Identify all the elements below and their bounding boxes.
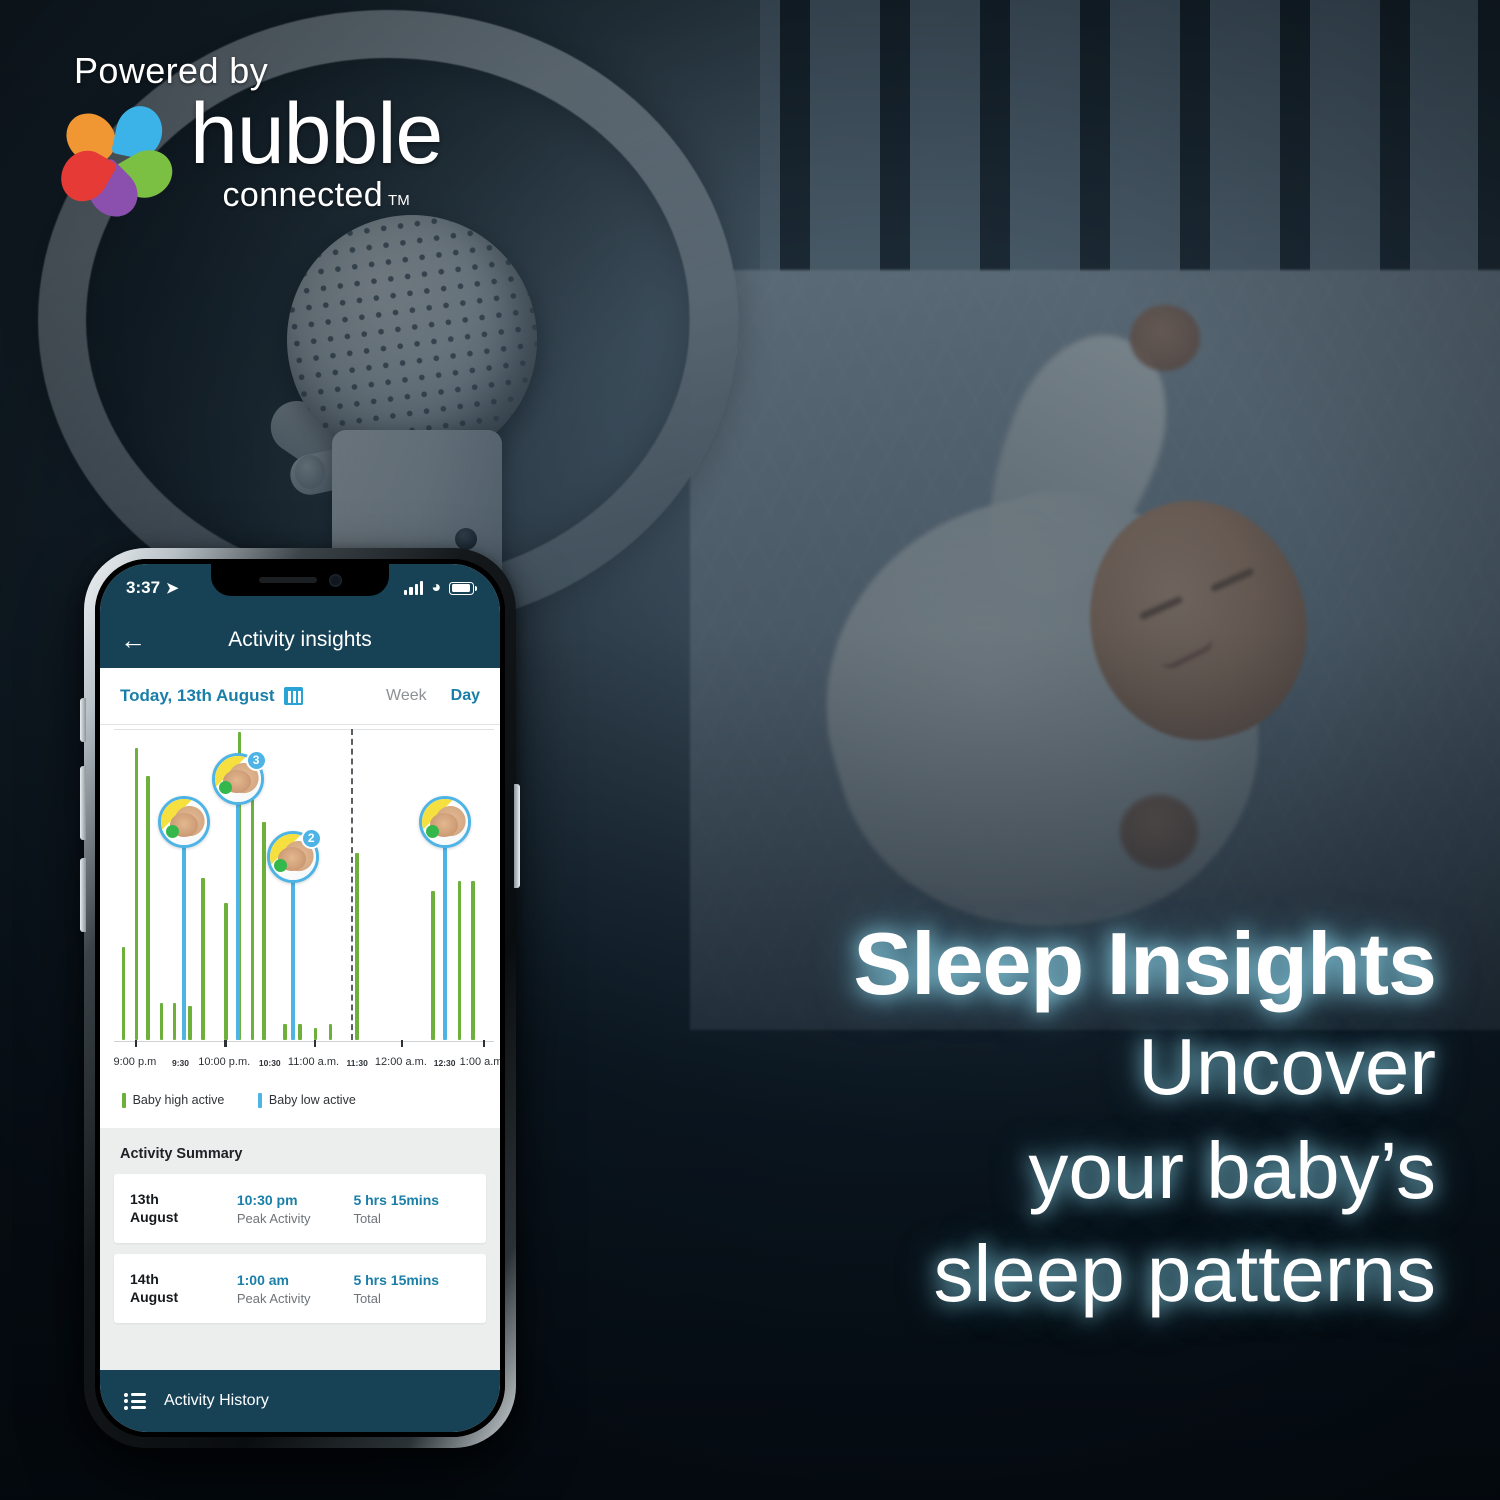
baby-avatar[interactable] xyxy=(158,796,210,848)
activity-bar xyxy=(173,1003,177,1040)
activity-stem xyxy=(291,857,295,1040)
legend-item: Baby high active xyxy=(122,1093,224,1108)
activity-bar xyxy=(458,881,462,1040)
activity-history-label: Activity History xyxy=(164,1392,269,1410)
activity-bar xyxy=(224,903,228,1040)
summary-title: Activity Summary xyxy=(114,1140,486,1174)
x-axis-tick xyxy=(224,1040,227,1047)
activity-bar xyxy=(122,947,126,1040)
activity-stem xyxy=(443,822,447,1040)
baby-avatar[interactable] xyxy=(419,796,471,848)
selected-date-label[interactable]: Today, 13th August xyxy=(120,686,275,706)
activity-bar xyxy=(251,788,255,1040)
legend-swatch xyxy=(258,1093,262,1108)
activity-bar xyxy=(355,853,359,1040)
date-selector-row: Today, 13th August Week Day xyxy=(100,668,500,724)
summary-peak-label: Peak Activity xyxy=(237,1211,354,1226)
baby-avatar[interactable]: 3 xyxy=(212,753,264,805)
chart-legend: Baby high activeBaby low active xyxy=(100,1072,500,1128)
tab-day[interactable]: Day xyxy=(451,687,480,705)
list-icon xyxy=(124,1393,146,1409)
activity-bar xyxy=(160,1003,164,1040)
phone-mute-switch[interactable] xyxy=(80,698,86,742)
front-camera-icon xyxy=(329,574,342,587)
event-count-badge: 3 xyxy=(246,750,267,771)
activity-bar xyxy=(314,1028,318,1040)
event-count-badge: 2 xyxy=(301,828,322,849)
summary-peak-label: Peak Activity xyxy=(237,1291,354,1306)
status-bar: 3:37 ➤ ◕ xyxy=(100,564,500,612)
x-axis-label: 12:00 a.m. xyxy=(375,1056,427,1068)
activity-bar xyxy=(201,878,205,1040)
activity-bar xyxy=(298,1024,302,1040)
summary-total-label: Total xyxy=(353,1291,470,1306)
x-axis-tick xyxy=(483,1040,486,1047)
activity-summary-section: Activity Summary 13thAugust10:30 pmPeak … xyxy=(100,1128,500,1370)
chart-x-axis xyxy=(114,1041,494,1042)
app-screen: 3:37 ➤ ◕ ← Activity insights Today, 13th… xyxy=(100,564,500,1432)
activity-bar xyxy=(188,1006,192,1040)
x-axis-label: 11:30 xyxy=(347,1058,368,1068)
status-time: 3:37 xyxy=(126,578,160,598)
activity-bar xyxy=(431,891,435,1040)
baby-avatar[interactable]: 2 xyxy=(267,831,319,883)
summary-total-label: Total xyxy=(353,1211,470,1226)
phone-volume-down-button[interactable] xyxy=(80,858,86,932)
activity-bar xyxy=(146,776,150,1040)
headline-line-3: sleep patterns xyxy=(646,1229,1436,1319)
phone-notch xyxy=(211,564,389,596)
activity-bar xyxy=(471,881,475,1040)
summary-peak-value: 10:30 pm xyxy=(237,1192,354,1208)
summary-total: 5 hrs 15minsTotal xyxy=(353,1192,470,1226)
x-axis-tick xyxy=(314,1040,317,1047)
headline-title: Sleep Insights xyxy=(646,920,1436,1008)
activity-stem xyxy=(236,779,240,1040)
summary-peak: 1:00 amPeak Activity xyxy=(237,1272,354,1306)
signal-bars-icon xyxy=(404,581,424,595)
page-title: Activity insights xyxy=(100,628,500,652)
headline-line-2: your baby’s xyxy=(646,1126,1436,1216)
summary-date: 14thAugust xyxy=(130,1271,237,1306)
legend-label: Baby low active xyxy=(269,1093,356,1107)
brand-tagline: connected xyxy=(223,176,384,215)
trademark-symbol: TM xyxy=(388,192,410,209)
phone-volume-up-button[interactable] xyxy=(80,766,86,840)
x-axis-label: 12:30 xyxy=(434,1058,456,1068)
brand-logo: Powered by hubble connected TM xyxy=(66,50,442,215)
location-arrow-icon: ➤ xyxy=(166,579,179,597)
summary-total-value: 5 hrs 15mins xyxy=(353,1192,470,1208)
battery-icon xyxy=(449,582,474,595)
legend-item: Baby low active xyxy=(258,1093,355,1108)
x-axis-label: 1:00 a.m. xyxy=(460,1056,500,1068)
activity-bar xyxy=(329,1024,333,1040)
headline-line-1: Uncover xyxy=(646,1022,1436,1112)
app-navbar: ← Activity insights xyxy=(100,612,500,668)
wifi-icon: ◕ xyxy=(431,580,441,596)
range-toggle: Week Day xyxy=(386,687,480,705)
activity-history-bar[interactable]: Activity History xyxy=(100,1370,500,1432)
summary-total: 5 hrs 15minsTotal xyxy=(353,1272,470,1306)
tab-week[interactable]: Week xyxy=(386,687,427,705)
activity-bar xyxy=(283,1024,287,1040)
summary-total-value: 5 hrs 15mins xyxy=(353,1272,470,1288)
chart-plot-area: 32 xyxy=(114,729,494,1040)
x-axis-label: 10:00 p.m. xyxy=(198,1056,250,1068)
summary-date: 13thAugust xyxy=(130,1191,237,1226)
marketing-headline: Sleep Insights Uncover your baby’s sleep… xyxy=(646,920,1436,1319)
summary-peak-value: 1:00 am xyxy=(237,1272,354,1288)
phone-mockup: 3:37 ➤ ◕ ← Activity insights Today, 13th… xyxy=(84,548,516,1448)
summary-row[interactable]: 13thAugust10:30 pmPeak Activity5 hrs 15m… xyxy=(114,1174,486,1243)
summary-peak: 10:30 pmPeak Activity xyxy=(237,1192,354,1226)
activity-bar xyxy=(135,748,139,1040)
summary-row[interactable]: 14thAugust1:00 amPeak Activity5 hrs 15mi… xyxy=(114,1254,486,1323)
brand-name: hubble xyxy=(190,98,442,172)
legend-swatch xyxy=(122,1093,126,1108)
x-axis-tick xyxy=(135,1040,138,1047)
legend-label: Baby high active xyxy=(133,1093,225,1107)
x-axis-label: 9:30 xyxy=(172,1058,189,1068)
phone-power-button[interactable] xyxy=(514,784,520,888)
hubble-petals-icon xyxy=(66,104,168,206)
x-axis-tick xyxy=(401,1040,404,1047)
x-axis-label: 10:30 xyxy=(259,1058,281,1068)
activity-bar xyxy=(262,822,266,1040)
midnight-divider xyxy=(351,729,353,1040)
calendar-icon[interactable] xyxy=(284,687,303,705)
activity-chart[interactable]: 32 9:00 p.m9:3010:00 p.m.10:3011:00 a.m.… xyxy=(100,724,500,1072)
earpiece-speaker xyxy=(259,577,317,583)
activity-stem xyxy=(182,822,186,1040)
x-axis-label: 9:00 p.m xyxy=(113,1056,156,1068)
x-axis-label: 11:00 a.m. xyxy=(288,1056,339,1068)
